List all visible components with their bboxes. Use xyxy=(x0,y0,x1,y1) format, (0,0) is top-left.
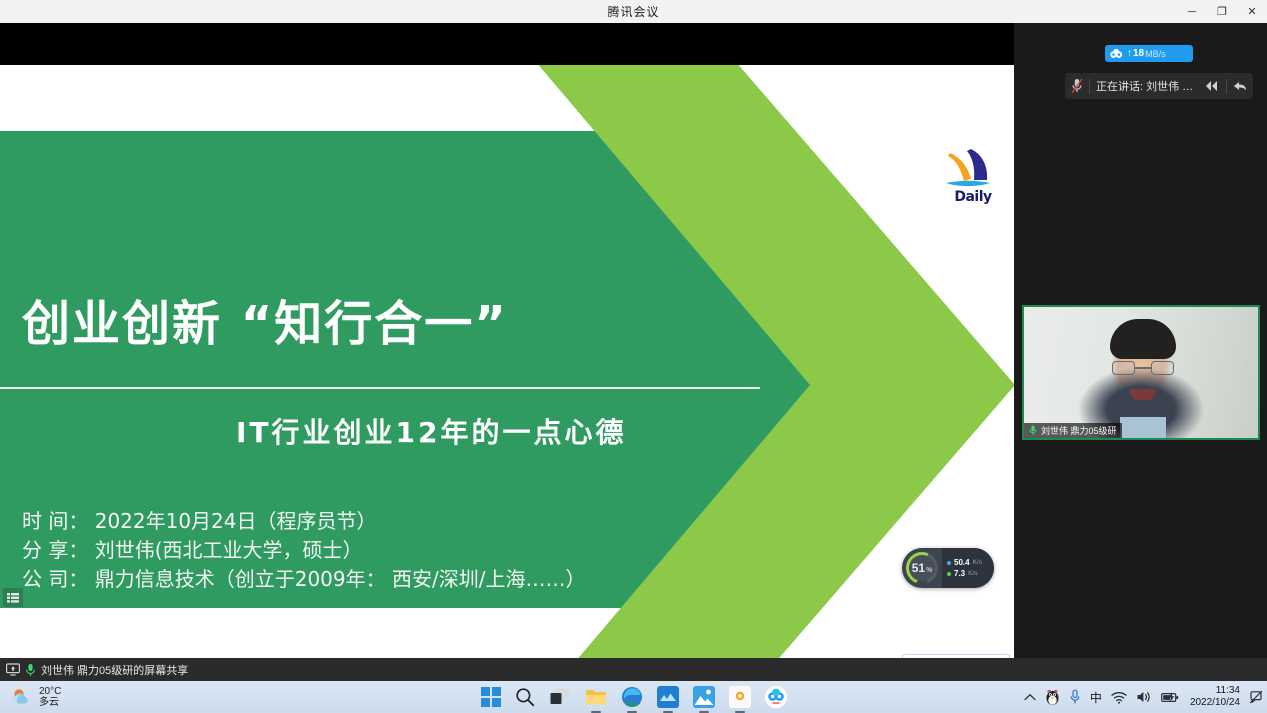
download-speed-value: 50.4 xyxy=(954,558,970,567)
volume-icon[interactable] xyxy=(1136,690,1152,704)
app-white-icon[interactable] xyxy=(729,685,751,709)
search-icon[interactable] xyxy=(515,685,535,709)
slide-info-row-speaker: 分 享： 刘世伟(西北工业大学，硕士） xyxy=(22,536,642,565)
slide-info-row-time: 时 间： 2022年10月24日（程序员节） xyxy=(22,507,642,536)
photos-icon[interactable] xyxy=(693,685,715,709)
upload-dot-icon xyxy=(947,572,951,576)
slide-toolbar-toggle[interactable] xyxy=(3,588,23,607)
participant-name-badge: 刘世伟 鼎力05级研 xyxy=(1024,423,1122,438)
clock-time: 11:34 xyxy=(1216,685,1240,697)
cpu-usage-gauge: 51% xyxy=(906,552,938,584)
slide-info-list: 时 间： 2022年10月24日（程序员节） 分 享： 刘世伟(西北工业大学，硕… xyxy=(22,507,642,594)
file-explorer-icon[interactable] xyxy=(585,685,607,709)
maximize-button[interactable]: ❐ xyxy=(1207,0,1237,23)
slide-divider-rule xyxy=(0,387,760,389)
participant-video-tile[interactable]: 刘世伟 鼎力05级研 xyxy=(1022,305,1260,440)
daily-logo-text: Daily xyxy=(938,189,1008,205)
partly-cloudy-icon xyxy=(10,687,34,707)
app-blue-icon[interactable] xyxy=(657,685,679,709)
network-speeds: 50.4 K/s 7.3 K/s xyxy=(942,548,994,588)
slide-subtitle: IT行业创业12年的一点心德 xyxy=(236,411,796,451)
microphone-on-icon xyxy=(1029,425,1037,436)
active-speaker-bar[interactable]: 正在讲话: 刘世伟 鼎力05... xyxy=(1065,73,1253,99)
participant-name: 刘世伟 鼎力05级研 xyxy=(1041,424,1117,437)
network-monitor-widget[interactable]: 51% 50.4 K/s 7.3 K/s xyxy=(902,548,994,588)
screen-share-text: 刘世伟 鼎力05级研的屏幕共享 xyxy=(41,662,188,678)
minimize-button[interactable]: ─ xyxy=(1177,0,1207,23)
chevrons-left-icon[interactable] xyxy=(1204,80,1220,92)
slide-info-row-company: 公 司： 鼎力信息技术（创立于2009年： 西安/深圳/上海……） xyxy=(22,565,642,594)
taskbar-app-icons xyxy=(484,681,784,713)
start-button-icon[interactable] xyxy=(481,685,501,709)
taskbar-clock[interactable]: 11:34 2022/10/24 xyxy=(1190,685,1240,709)
upload-arrow-icon: ↑ xyxy=(1127,48,1132,59)
cpu-usage-unit: % xyxy=(926,567,932,574)
list-menu-icon xyxy=(7,592,19,603)
weather-temperature: 20°C xyxy=(39,686,61,697)
slide-title: 创业创新 “知行合一” xyxy=(22,297,642,352)
video-person-glasses xyxy=(1112,361,1174,375)
task-view-icon[interactable] xyxy=(549,685,571,709)
upload-speed-value: 7.3 xyxy=(954,569,965,578)
upload-speed-unit: MB/s xyxy=(1145,49,1166,59)
window-title-bar: 腾讯会议 ─ ❐ ✕ xyxy=(0,0,1267,23)
chevron-up-icon[interactable] xyxy=(1024,693,1036,702)
qq-penguin-icon[interactable] xyxy=(1045,689,1060,706)
microsoft-edge-icon[interactable] xyxy=(621,685,643,709)
shared-slide: 创业创新 “知行合一” IT行业创业12年的一点心德 时 间： 2022年10月… xyxy=(0,65,1014,660)
battery-icon[interactable] xyxy=(1161,691,1179,704)
divider xyxy=(1226,79,1227,94)
upload-speed-unit: K/s xyxy=(968,570,977,577)
wifi-icon[interactable] xyxy=(1111,691,1127,704)
close-button[interactable]: ✕ xyxy=(1237,0,1267,23)
window-controls: ─ ❐ ✕ xyxy=(1177,0,1267,23)
window-title: 腾讯会议 xyxy=(90,3,1177,20)
taskbar-weather-widget[interactable]: 20°C 多云 xyxy=(0,686,240,708)
upload-speed-value: 18 xyxy=(1133,48,1144,59)
ime-indicator[interactable]: 中 xyxy=(1090,689,1102,706)
download-dot-icon xyxy=(947,561,951,565)
notification-icon[interactable] xyxy=(1249,690,1263,704)
baidu-netdisk-icon[interactable] xyxy=(765,685,787,709)
microphone-muted-icon[interactable] xyxy=(1071,78,1083,94)
video-person-mouth xyxy=(1130,389,1156,400)
system-tray: 中 11:34 2022 xyxy=(1024,681,1263,713)
screen-share-status-bar: 刘世伟 鼎力05级研的屏幕共享 xyxy=(0,658,1267,681)
meeting-stage: ↑ 18 MB/s 正在讲话: 刘世伟 鼎力05... xyxy=(0,23,1267,681)
download-speed-row: 50.4 K/s xyxy=(947,558,994,567)
cpu-usage-value: 51 xyxy=(912,561,925,575)
daily-logo: Daily xyxy=(938,147,1008,205)
back-arrow-icon[interactable] xyxy=(1233,80,1247,92)
network-speed-pill[interactable]: ↑ 18 MB/s xyxy=(1105,45,1193,62)
upload-speed-row: 7.3 K/s xyxy=(947,569,994,578)
download-speed-unit: K/s xyxy=(973,559,982,566)
active-speaker-text: 正在讲话: 刘世伟 鼎力05... xyxy=(1096,78,1198,94)
video-person-hair xyxy=(1110,319,1176,359)
monitor-share-icon[interactable] xyxy=(6,663,20,676)
divider xyxy=(1089,79,1090,94)
microphone-on-icon[interactable] xyxy=(25,663,36,677)
cloud-upload-icon xyxy=(1108,47,1124,61)
clock-date: 2022/10/24 xyxy=(1190,697,1240,709)
weather-condition: 多云 xyxy=(39,697,61,708)
video-person-collar xyxy=(1120,417,1166,440)
windows-taskbar: 20°C 多云 xyxy=(0,681,1267,713)
microphone-icon[interactable] xyxy=(1069,689,1081,705)
